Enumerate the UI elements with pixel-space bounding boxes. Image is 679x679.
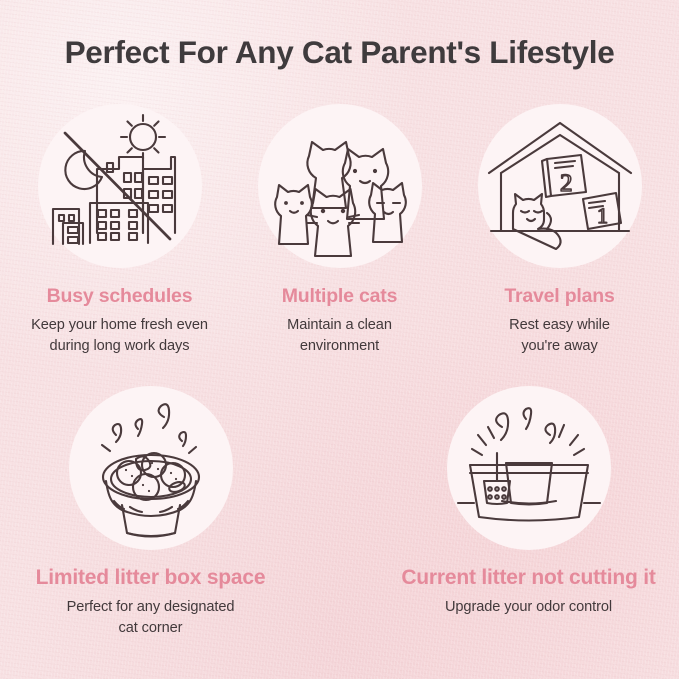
house-sleeping-cat-calendar-icon: 2 1 [485, 111, 635, 261]
page-title: Perfect For Any Cat Parent's Lifestyle [0, 34, 679, 71]
feature-card-travel-plans: 2 1 Travel plans [454, 104, 666, 356]
icon-circle-multiple-cats [258, 104, 422, 268]
card-body-line-2: during long work days [31, 336, 208, 357]
icon-circle-busy-schedules [38, 104, 202, 268]
card-body-line-1: Upgrade your odor control [445, 597, 612, 618]
card-body: Maintain a clean environment [287, 315, 392, 356]
card-body: Rest easy while you're away [509, 315, 610, 356]
card-body-line-1: Rest easy while [509, 315, 610, 336]
card-body-line-1: Maintain a clean [287, 315, 392, 336]
svg-text:1: 1 [597, 203, 608, 228]
city-day-night-icon [45, 111, 195, 261]
card-body-line-2: environment [287, 336, 392, 357]
card-body: Perfect for any designated cat corner [67, 597, 235, 638]
feature-card-busy-schedules: Busy schedules Keep your home fresh even… [14, 104, 226, 356]
feature-row-bottom: Limited litter box space Perfect for any… [0, 386, 679, 638]
card-body-line-2: you're away [509, 336, 610, 357]
poster-canvas: Perfect For Any Cat Parent's Lifestyle [0, 0, 679, 679]
feature-card-current-litter: Current litter not cutting it Upgrade yo… [379, 386, 679, 638]
icon-circle-limited-space [69, 386, 233, 550]
card-body: Upgrade your odor control [445, 597, 612, 618]
card-heading: Limited litter box space [36, 566, 266, 590]
litter-pail-odor-icon [76, 393, 226, 543]
card-heading: Multiple cats [282, 285, 398, 308]
card-heading: Travel plans [504, 285, 614, 308]
litter-box-scoop-odor-icon [454, 393, 604, 543]
feature-card-limited-space: Limited litter box space Perfect for any… [1, 386, 301, 638]
svg-text:2: 2 [560, 170, 573, 197]
card-body-line-1: Perfect for any designated [67, 597, 235, 618]
card-body-line-2: cat corner [67, 618, 235, 639]
card-body-line-1: Keep your home fresh even [31, 315, 208, 336]
multiple-cats-icon [265, 111, 415, 261]
card-heading: Busy schedules [47, 285, 193, 308]
card-body: Keep your home fresh even during long wo… [31, 315, 208, 356]
icon-circle-travel-plans: 2 1 [478, 104, 642, 268]
card-heading: Current litter not cutting it [401, 566, 655, 590]
icon-circle-current-litter [447, 386, 611, 550]
feature-card-multiple-cats: Multiple cats Maintain a clean environme… [234, 104, 446, 356]
feature-row-top: Busy schedules Keep your home fresh even… [0, 104, 679, 356]
